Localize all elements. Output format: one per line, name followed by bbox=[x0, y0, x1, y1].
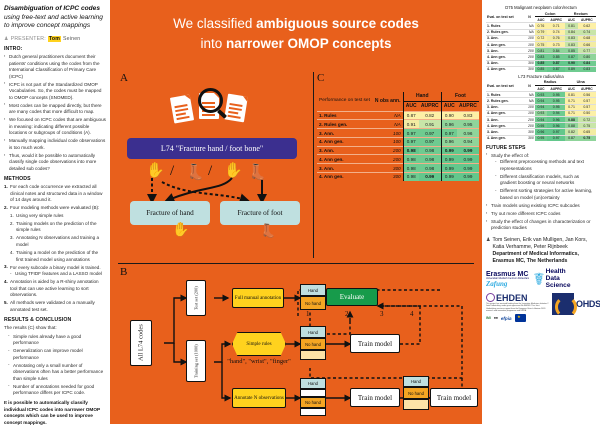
results-heading: RESULTS & CONCLUSION bbox=[4, 317, 106, 323]
stack-hand-label: Hand bbox=[308, 288, 318, 293]
metric-cell: 0.97 bbox=[419, 129, 442, 138]
authors-block: ♟ Tom Seinen, Erik van Mulligen, Jan Kor… bbox=[486, 237, 596, 265]
stack-pale-4 bbox=[403, 399, 429, 410]
stack-nohand-label: No hand bbox=[305, 342, 321, 347]
metric-cell: 0.82 bbox=[419, 111, 442, 120]
metric-cell: 0.96 bbox=[441, 120, 457, 129]
title-part-2: codes bbox=[81, 5, 100, 12]
eval-label: Eval. on test set bbox=[486, 11, 524, 23]
metric-cell: 0.99 bbox=[419, 173, 442, 181]
list-item: Try out more different ICPC codes bbox=[486, 211, 596, 218]
col-header-auc-foot: AUC bbox=[441, 101, 457, 111]
stack-white-3b bbox=[300, 408, 326, 416]
row-nobs: NA bbox=[373, 120, 403, 129]
flow-number-3: 3 bbox=[380, 310, 384, 318]
list-item: Annotating only a small number of observ… bbox=[8, 363, 106, 383]
stack-white-3 bbox=[300, 389, 326, 397]
source-code-label: L74 "Fracture hand / foot bone" bbox=[161, 144, 263, 153]
node-train-model-label: Train model bbox=[437, 394, 471, 402]
col-header-nobs: N obs ann. bbox=[373, 92, 403, 111]
metric-cell: 0.94 bbox=[457, 137, 479, 146]
metric-cell: 0.97 bbox=[441, 129, 457, 138]
stack-nohand-4: No hand bbox=[403, 387, 429, 399]
list-item: Different classification models, such as… bbox=[495, 174, 596, 187]
poster-root: Disambiguation of ICPC codes using free-… bbox=[0, 0, 600, 424]
list-item: Dutch general practitioners document the… bbox=[4, 54, 106, 80]
node-full-manual-label: Full manual annotation bbox=[235, 296, 281, 301]
list-item: All methods were validated on a manually… bbox=[4, 300, 106, 313]
metric-cell: 0.91 bbox=[419, 120, 442, 129]
list-item: Using TFIDF features and a LASSO model bbox=[10, 271, 106, 278]
stack-hand-4: Hand bbox=[403, 376, 429, 387]
node-training-set: Training set (1000) bbox=[186, 340, 206, 382]
future-steps-heading: FUTURE STEPS bbox=[486, 145, 596, 151]
list-item: Training a model on the prediction of th… bbox=[10, 250, 106, 263]
row-label: 4. Ann gen. bbox=[317, 155, 373, 164]
table-row: 4. Ann gen.3000.850.870.890.83 bbox=[486, 66, 596, 72]
hds-text: Health Data Science bbox=[546, 269, 571, 290]
metric-cell: 0.95 bbox=[457, 120, 479, 129]
imi-badge-icon: IMI bbox=[486, 316, 491, 320]
metric-cell: 0.98 bbox=[419, 155, 442, 164]
metric-cell: 0.99 bbox=[457, 173, 479, 181]
stack-hand-label: Hand bbox=[308, 330, 318, 335]
row-nobs: NA bbox=[373, 111, 403, 120]
metric-cell: 0.75 bbox=[578, 135, 596, 141]
presenter-label: PRESENTER: bbox=[11, 36, 46, 42]
page-title: Disambiguation of ICPC codes using free-… bbox=[4, 5, 106, 31]
boot-icon: 👢 bbox=[260, 224, 276, 237]
future-steps-list: Study the effect of: Different preproces… bbox=[486, 153, 596, 232]
metric-cell: 0.99 bbox=[457, 155, 479, 164]
output-box-foot: Fracture of foot bbox=[220, 201, 300, 225]
node-simple-rules-label: Simple rules bbox=[246, 342, 271, 347]
list-item: Different sorting strategies for active … bbox=[495, 188, 596, 201]
title-part-3: using free-text and active learning to i… bbox=[4, 14, 103, 30]
banner-line1-pre: We classified bbox=[173, 16, 256, 31]
list-item: Different preprocessing methods and text… bbox=[495, 159, 596, 172]
row-label: 2. Rules gen. bbox=[317, 120, 373, 129]
col-group-foot: Foot bbox=[441, 92, 479, 101]
metric-cell: 0.98 bbox=[419, 146, 442, 155]
metric-cell: 0.99 bbox=[441, 155, 457, 164]
stack-hand-1: Hand bbox=[300, 284, 326, 296]
table-row: 3. Ann.3000.980.980.990.99 bbox=[317, 164, 479, 173]
eu-flag-icon bbox=[515, 314, 526, 322]
node-train-model-1: Train model bbox=[350, 334, 400, 353]
stack-nohand-label: No hand bbox=[305, 400, 321, 405]
list-item: Annotating N observations and training a… bbox=[10, 235, 106, 248]
list-item: Most codes can be mapped directly, but t… bbox=[4, 103, 106, 116]
table-row: 3. Ann.1000.970.970.970.96 bbox=[317, 129, 479, 138]
row-label: 4. Ann gen. bbox=[486, 135, 524, 141]
methods-item-3-text: For every subcode a binary model is trai… bbox=[10, 265, 101, 270]
metric-cell: 0.95 bbox=[535, 135, 547, 141]
metric-cell: 0.85 bbox=[535, 66, 547, 72]
table-row: 4. Ann gen.3000.980.990.990.99 bbox=[317, 173, 479, 181]
metric-cell: 0.87 bbox=[403, 111, 419, 120]
table-row: 4. Ann gen.3000.950.970.870.75 bbox=[486, 135, 596, 141]
metric-cell: 0.96 bbox=[441, 137, 457, 146]
methods-sublist: Using very simple rules Training models … bbox=[10, 213, 106, 263]
metric-cell: 0.98 bbox=[403, 155, 419, 164]
row-label: 4. Ann gen. bbox=[317, 173, 373, 181]
list-item: Generalization can improve model perform… bbox=[8, 348, 106, 361]
list-item: For every subcode a binary model is trai… bbox=[4, 265, 106, 278]
metric-cell: 0.99 bbox=[457, 164, 479, 173]
metric-cell: 0.87 bbox=[547, 66, 565, 72]
row-label: 3. Ann. bbox=[317, 129, 373, 138]
imi-label: ■■ bbox=[494, 316, 498, 320]
results-table: Performance on test set N obs ann. Hand … bbox=[317, 92, 479, 181]
metric-cell: 0.98 bbox=[403, 146, 419, 155]
supplementary-table: Eval. on test setNRadiusUlnaAUCAUPRCAUCA… bbox=[486, 80, 596, 141]
list-item: Training models on the prediction of the… bbox=[10, 221, 106, 234]
node-train-model-label: Train model bbox=[358, 394, 392, 402]
row-label: 4. Ann gen. bbox=[317, 137, 373, 146]
stack-hand-3: Hand bbox=[300, 378, 326, 389]
output-box-hand: Fracture of hand bbox=[130, 201, 210, 225]
list-item: Manually mapping individual code observa… bbox=[4, 138, 106, 151]
efpia-logo: efpia bbox=[501, 316, 512, 321]
stack-nohand-label: No hand bbox=[408, 391, 424, 396]
panel-c: C Performance on test set N obs ann. Han… bbox=[313, 68, 482, 266]
funder-logos-row: IMI ■■ efpia bbox=[486, 314, 548, 322]
table-row: 3. Ann.2000.980.980.990.99 bbox=[317, 146, 479, 155]
table-caption: L73 Fracture radius/ulna bbox=[486, 74, 596, 79]
table-row: 1. RulesNA0.870.820.900.83 bbox=[317, 111, 479, 120]
results-table-body: 1. RulesNA0.870.820.900.832. Rules gen.N… bbox=[317, 111, 479, 181]
node-train-model-2: Train model bbox=[350, 388, 400, 407]
rules-keywords: "hand", "wrist", "finger" bbox=[222, 358, 296, 366]
row-nobs: 200 bbox=[373, 155, 403, 164]
table-row: 4. Ann gen.2000.980.980.990.99 bbox=[317, 155, 479, 164]
node-annotate-n: Annotate N observations bbox=[232, 388, 286, 408]
list-item: Train models using existing ICPC subcode… bbox=[486, 203, 596, 210]
panel-a: A L74 "Fracture hand / foot bone" bbox=[110, 68, 313, 266]
table-caption-cell: Performance on test set bbox=[317, 92, 373, 111]
metric-cell: 0.89 bbox=[565, 66, 577, 72]
metric-cell: 0.83 bbox=[457, 111, 479, 120]
logos-block: Erasmus MC Universitair Medisch Centrum … bbox=[486, 269, 596, 322]
methods-dash-list: Using TFIDF features and a LASSO model bbox=[10, 271, 106, 278]
center-panel: We classified ambiguous source codes int… bbox=[110, 0, 482, 424]
logo-row-1: Erasmus MC Universitair Medisch Centrum … bbox=[486, 269, 596, 290]
author-names: Tom Seinen, Erik van Mulligen, Jan Kors,… bbox=[492, 237, 587, 250]
intro-list: Dutch general practitioners document the… bbox=[4, 54, 106, 172]
document-icon bbox=[170, 94, 194, 123]
table-row: 2. Rules gen.NA0.910.910.960.95 bbox=[317, 120, 479, 129]
banner-line-2: into narrower OMOP concepts bbox=[200, 34, 391, 54]
panel-c-label: C bbox=[317, 72, 324, 84]
banner-line2-bold: narrower OMOP concepts bbox=[226, 36, 392, 51]
supplementary-tables: D75 Malignant neoplasm colon/rectumEval.… bbox=[486, 5, 596, 141]
row-nobs: 100 bbox=[373, 129, 403, 138]
eval-label: Eval. on test set bbox=[486, 80, 524, 92]
list-item: Simple rules already have a good perform… bbox=[8, 334, 106, 347]
panel-b: B bbox=[110, 266, 482, 424]
banner-line-1: We classified ambiguous source codes bbox=[173, 14, 419, 34]
node-evaluate-label: Evaluate bbox=[340, 293, 365, 301]
banner-line1-bold: ambiguous source codes bbox=[256, 16, 419, 31]
list-item: Study the effect of changes in character… bbox=[486, 219, 596, 232]
stack-nohand-1: No hand bbox=[300, 296, 326, 310]
table-group-header-row: Performance on test set N obs ann. Hand … bbox=[317, 92, 479, 101]
stack-nohand-label: No hand bbox=[305, 301, 321, 306]
node-test-set-label: Test set (200) bbox=[194, 286, 199, 310]
future-sublist: Different preprocessing methods and text… bbox=[495, 159, 596, 201]
methods-item-2-text: Four modeling methods were evaluated (B)… bbox=[10, 205, 99, 210]
list-item: Four modeling methods were evaluated (B)… bbox=[4, 205, 106, 263]
list-item: ICPC is not part of the Standardized OMO… bbox=[4, 82, 106, 102]
col-header-auc-hand: AUC bbox=[403, 101, 419, 111]
logo-row-2: EHDEN This project has received funding … bbox=[486, 293, 596, 323]
hand-icon: ✋ bbox=[172, 222, 189, 236]
ehden-logo: EHDEN bbox=[486, 293, 548, 303]
person-icon: ♟ bbox=[486, 237, 490, 265]
stack-pale-2 bbox=[300, 350, 326, 360]
documents-group bbox=[172, 92, 252, 124]
magnifier-icon bbox=[198, 88, 223, 113]
output-label-foot: Fracture of foot bbox=[237, 209, 282, 217]
metric-cell: 0.98 bbox=[419, 164, 442, 173]
metric-cell: 0.98 bbox=[403, 173, 419, 181]
erasmus-mc-logo: Erasmus MC Universitair Medisch Centrum … bbox=[486, 271, 529, 287]
globe-icon bbox=[486, 293, 495, 302]
supplementary-table: Eval. on test setNColonRectumAUCAUPRCAUC… bbox=[486, 11, 596, 72]
methods-list: For each code occurrence we extracted al… bbox=[4, 184, 106, 313]
row-nobs: 300 bbox=[373, 173, 403, 181]
node-annotate-n-label: Annotate N observations bbox=[234, 396, 284, 401]
methods-heading: METHODS bbox=[4, 176, 106, 182]
results-table-head: Performance on test set N obs ann. Hand … bbox=[317, 92, 479, 111]
ohdsi-logo: OHDSI bbox=[552, 293, 600, 315]
row-label: 1. Rules bbox=[317, 111, 373, 120]
col-header-auprc-hand: AUPRC bbox=[419, 101, 442, 111]
title-part-1: Disambiguation of ICPC bbox=[4, 5, 79, 12]
metric-cell: 0.97 bbox=[403, 129, 419, 138]
ohdsi-mark-icon bbox=[552, 293, 574, 315]
metric-cell: 0.99 bbox=[441, 173, 457, 181]
col-group-hand: Hand bbox=[403, 92, 441, 101]
list-item: For each code occurrence we extracted al… bbox=[4, 184, 106, 204]
node-training-set-label: Training set (1000) bbox=[194, 344, 199, 378]
node-test-set: Test set (200) bbox=[186, 280, 206, 316]
flow-number-1: 1 bbox=[306, 310, 310, 318]
row-n: 300 bbox=[524, 135, 534, 141]
results-list: Simple rules already have a good perform… bbox=[8, 334, 106, 397]
stack-nohand-3: No hand bbox=[300, 397, 326, 408]
row-label: 3. Ann. bbox=[317, 146, 373, 155]
health-data-science-logo: ☤ Health Data Science bbox=[533, 269, 570, 290]
table-caption: D75 Malignant neoplasm colon/rectum bbox=[486, 5, 596, 10]
stack-hand-label: Hand bbox=[308, 381, 318, 386]
node-full-manual-annotation: Full manual annotation bbox=[232, 288, 284, 308]
list-item: Using very simple rules bbox=[10, 213, 106, 220]
banner-line2-pre: into bbox=[200, 36, 226, 51]
node-all-codes: All L74 codes bbox=[130, 320, 152, 366]
title-banner: We classified ambiguous source codes int… bbox=[110, 0, 482, 68]
stack-hand-2: Hand bbox=[300, 326, 326, 338]
stack-hand-label: Hand bbox=[411, 379, 421, 384]
metric-cell: 0.97 bbox=[419, 137, 442, 146]
ohdsi-name: OHDSI bbox=[576, 299, 600, 309]
row-label: 4. Ann gen. bbox=[486, 66, 524, 72]
presenter-first-name: Tom bbox=[48, 36, 61, 42]
output-label-hand: Fracture of hand bbox=[146, 209, 194, 217]
metric-cell: 0.99 bbox=[457, 146, 479, 155]
node-simple-rules: Simple rules bbox=[232, 332, 286, 356]
row-nobs: 200 bbox=[373, 146, 403, 155]
document-icon bbox=[224, 94, 248, 123]
results-intro: The results (C) show that: bbox=[4, 325, 106, 332]
row-n: 300 bbox=[524, 66, 534, 72]
stack-nohand-2: No hand bbox=[300, 338, 326, 350]
ehden-name: EHDEN bbox=[496, 293, 528, 303]
metric-cell: 0.96 bbox=[457, 129, 479, 138]
imi-funding-note: This project has received funding from t… bbox=[486, 303, 550, 313]
hds-line-3: Science bbox=[546, 282, 571, 289]
list-item: Thus, would it be possible to automatica… bbox=[4, 153, 106, 173]
metric-cell: 0.97 bbox=[403, 137, 419, 146]
list-item: Number of annotations needed for good pe… bbox=[8, 384, 106, 397]
panel-a-label: A bbox=[120, 72, 128, 84]
erasmus-script: Zafung bbox=[486, 280, 507, 288]
col-header-n: N bbox=[524, 80, 534, 92]
node-all-codes-label: All L74 codes bbox=[138, 325, 145, 362]
col-header-auprc-foot: AUPRC bbox=[457, 101, 479, 111]
metric-cell: 0.83 bbox=[578, 66, 596, 72]
asclepius-rod-icon: ☤ bbox=[533, 273, 544, 287]
flow-number-2: 2 bbox=[345, 310, 349, 318]
person-icon: ♟ bbox=[4, 36, 9, 42]
metric-cell: 0.98 bbox=[403, 164, 419, 173]
metric-cell: 0.87 bbox=[565, 135, 577, 141]
list-item: Annotation is aided by a R-shiny annotat… bbox=[4, 279, 106, 299]
list-item: We focused on ICPC codes that are ambigu… bbox=[4, 117, 106, 137]
row-label: 3. Ann. bbox=[317, 164, 373, 173]
table-row: 4. Ann gen.1000.970.970.960.94 bbox=[317, 137, 479, 146]
row-nobs: 300 bbox=[373, 164, 403, 173]
metric-cell: 0.99 bbox=[441, 146, 457, 155]
list-item: Study the effect of: Different preproces… bbox=[486, 153, 596, 202]
node-evaluate: Evaluate bbox=[326, 288, 378, 306]
col-header-n: N bbox=[524, 11, 534, 23]
presenter-last-name: Seinen bbox=[63, 36, 80, 42]
future-item-0: Study the effect of: bbox=[491, 153, 529, 158]
intro-heading: INTRO: bbox=[4, 46, 106, 52]
conclusion-text: It is possible to automatically classify… bbox=[4, 400, 106, 427]
metric-cell: 0.91 bbox=[403, 120, 419, 129]
metric-cell: 0.97 bbox=[547, 135, 565, 141]
node-train-model-label: Train model bbox=[358, 340, 392, 348]
metric-cell: 0.90 bbox=[441, 111, 457, 120]
author-affiliation: Department of Medical Informatics, Erasm… bbox=[492, 251, 578, 264]
flow-number-4: 4 bbox=[410, 310, 414, 318]
metric-cell: 0.99 bbox=[441, 164, 457, 173]
right-column: D75 Malignant neoplasm colon/rectumEval.… bbox=[482, 0, 600, 424]
node-train-model-3: Train model bbox=[430, 388, 478, 407]
left-text-column: Disambiguation of ICPC codes using free-… bbox=[0, 0, 110, 424]
row-nobs: 100 bbox=[373, 137, 403, 146]
presenter-line: ♟ PRESENTER: Tom Seinen bbox=[4, 36, 106, 42]
